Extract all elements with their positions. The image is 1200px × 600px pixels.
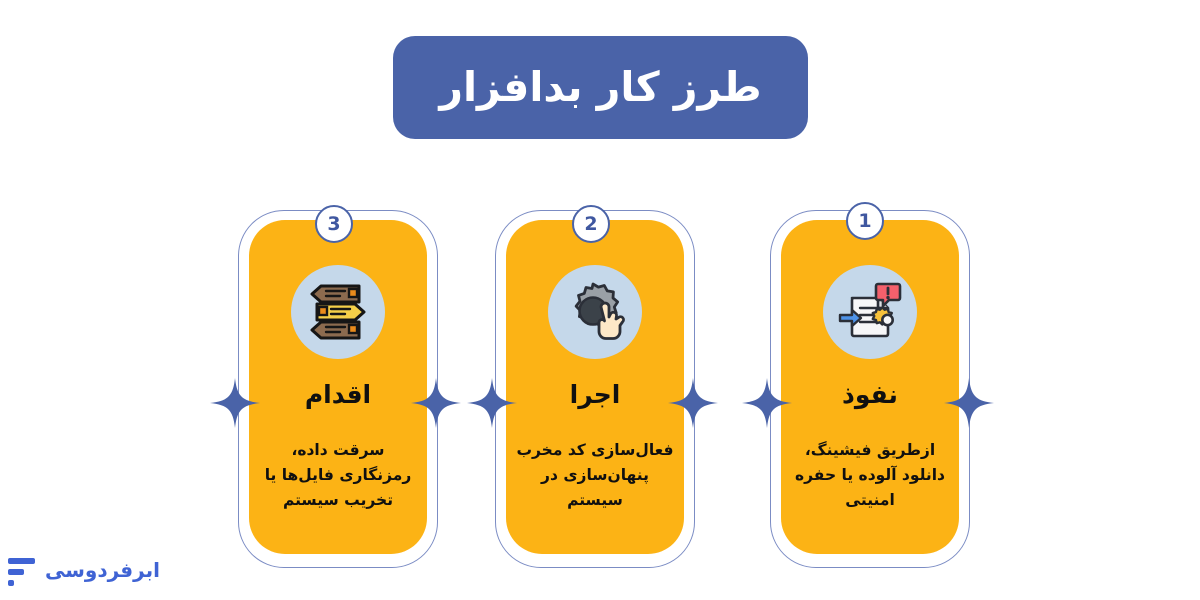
step-number-badge: 1 bbox=[846, 202, 884, 240]
card-body: نفوذ ازطریق فیشینگ، دانلود آلوده یا حفره… bbox=[781, 220, 959, 554]
step-card-1[interactable]: نفوذ ازطریق فیشینگ، دانلود آلوده یا حفره… bbox=[770, 205, 970, 565]
three-bars-icon bbox=[8, 554, 38, 586]
step-card-3[interactable]: اقدام سرقت داده، رمزنگاری فایل‌ها یا تخر… bbox=[238, 205, 438, 565]
card-title: اجرا bbox=[506, 380, 684, 409]
brand-logo[interactable]: ابرفردوسی bbox=[8, 548, 160, 592]
card-description: فعال‌سازی کد مخرب پنهان‌سازی در سیستم bbox=[512, 438, 678, 513]
step-number-badge: 2 bbox=[572, 205, 610, 243]
steps-container: نفوذ ازطریق فیشینگ، دانلود آلوده یا حفره… bbox=[0, 0, 1200, 600]
gear-hand-click-icon bbox=[548, 265, 642, 359]
card-title: نفوذ bbox=[781, 380, 959, 409]
step-number-badge: 3 bbox=[315, 205, 353, 243]
card-body: اجرا فعال‌سازی کد مخرب پنهان‌سازی در سیس… bbox=[506, 220, 684, 554]
card-title: اقدام bbox=[249, 380, 427, 409]
brand-name: ابرفردوسی bbox=[45, 558, 160, 582]
card-description: ازطریق فیشینگ، دانلود آلوده یا حفره امنی… bbox=[787, 438, 953, 513]
card-body: اقدام سرقت داده، رمزنگاری فایل‌ها یا تخر… bbox=[249, 220, 427, 554]
step-card-2[interactable]: اجرا فعال‌سازی کد مخرب پنهان‌سازی در سیس… bbox=[495, 205, 695, 565]
stacked-servers-icon bbox=[291, 265, 385, 359]
card-description: سرقت داده، رمزنگاری فایل‌ها یا تخریب سیس… bbox=[255, 438, 421, 513]
document-alert-gear-icon bbox=[823, 265, 917, 359]
